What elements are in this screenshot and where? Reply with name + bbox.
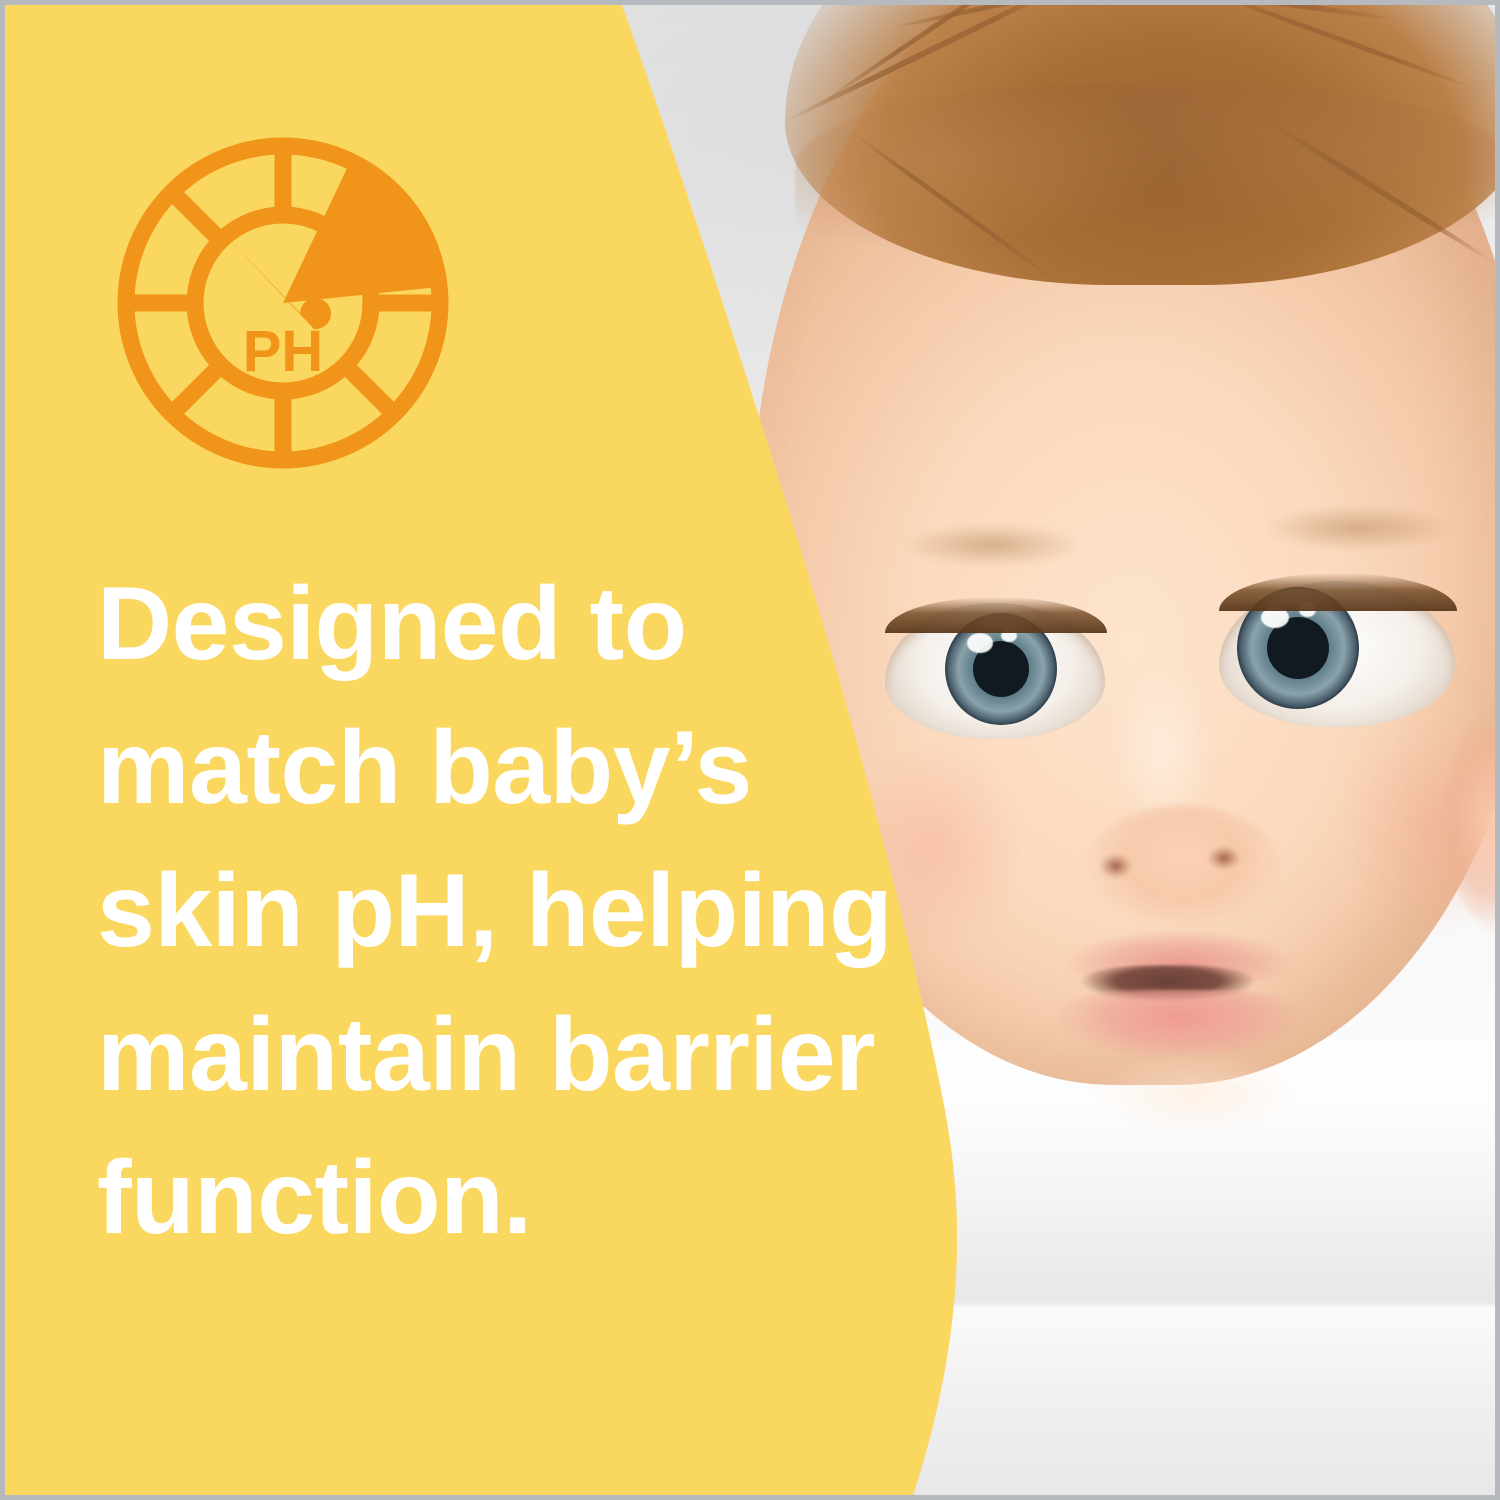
baby-nostril-right bbox=[1207, 845, 1241, 871]
product-feature-image: PH Designed to match baby’s skin pH, hel… bbox=[0, 0, 1500, 1500]
ph-gauge-icon: PH bbox=[113, 133, 453, 473]
baby-nostril-left bbox=[1099, 853, 1133, 879]
baby-eyebrow-right bbox=[1227, 499, 1489, 557]
baby-chin bbox=[1045, 1045, 1345, 1165]
ph-icon-label: PH bbox=[243, 319, 324, 384]
headline-text: Designed to match baby’s skin pH, helpin… bbox=[97, 553, 927, 1271]
